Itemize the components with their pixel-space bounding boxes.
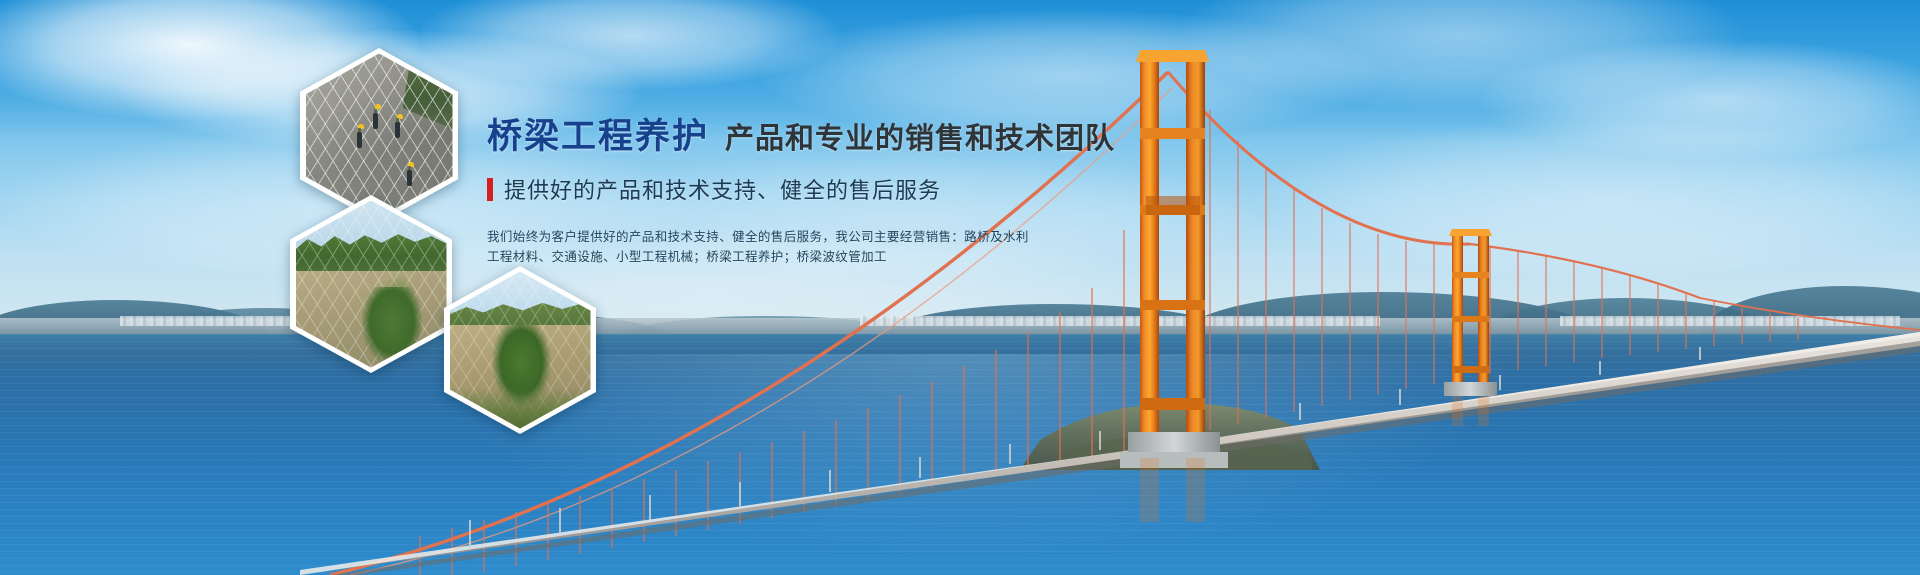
bridge-tower-secondary — [1444, 229, 1497, 396]
hex-photo-slope-netting-hillside[interactable] — [290, 195, 452, 373]
banner-text-block: 桥梁工程养护 产品和专业的销售和技术团队 提供好的产品和技术支持、健全的售后服务… — [487, 120, 1247, 267]
suspension-bridge — [0, 0, 1920, 575]
red-accent-bar — [487, 178, 493, 201]
hex-photo-slope-netting-embankment[interactable] — [444, 266, 596, 434]
subheadline-text: 提供好的产品和技术支持、健全的售后服务 — [504, 173, 941, 205]
headline-primary: 桥梁工程养护 — [487, 120, 709, 155]
banner-paragraph: 我们始终为客户提供好的产品和技术支持、健全的售后服务，我公司主要经营销售：路桥及… — [487, 227, 1247, 267]
headline-secondary: 产品和专业的销售和技术团队 — [725, 124, 1115, 153]
paragraph-line-2: 工程材料、交通设施、小型工程机械；桥梁工程养护；桥梁波纹管加工 — [487, 247, 1247, 267]
banner-subheadline: 提供好的产品和技术支持、健全的售后服务 — [487, 173, 1247, 205]
hero-banner: 桥梁工程养护 产品和专业的销售和技术团队 提供好的产品和技术支持、健全的售后服务… — [0, 0, 1920, 575]
paragraph-line-1: 我们始终为客户提供好的产品和技术支持、健全的售后服务，我公司主要经营销售：路桥及… — [487, 227, 1247, 247]
banner-headline: 桥梁工程养护 产品和专业的销售和技术团队 — [487, 120, 1247, 155]
